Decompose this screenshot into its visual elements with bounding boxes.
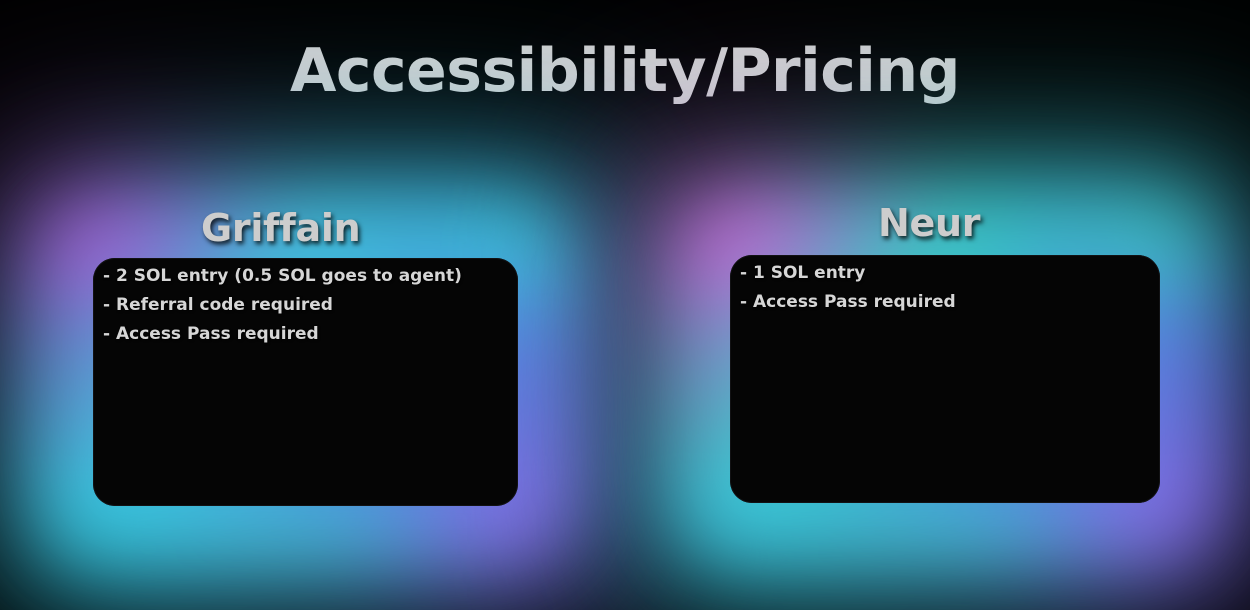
list-item: - 1 SOL entry <box>740 259 1150 288</box>
page-title: Accessibility/Pricing <box>0 36 1250 106</box>
pricing-card-neur: Neur - 1 SOL entry - Access Pass require… <box>730 255 1160 503</box>
list-item: - 2 SOL entry (0.5 SOL goes to agent) <box>103 262 508 291</box>
card-surface: - 2 SOL entry (0.5 SOL goes to agent) - … <box>93 258 518 506</box>
pricing-card-griffain: Griffain - 2 SOL entry (0.5 SOL goes to … <box>93 258 518 506</box>
card-heading-griffain: Griffain <box>201 206 360 250</box>
slide-root: Accessibility/Pricing Griffain - 2 SOL e… <box>0 0 1250 600</box>
list-item: - Referral code required <box>103 291 508 320</box>
list-item: - Access Pass required <box>103 320 508 349</box>
card-heading-neur: Neur <box>878 201 980 245</box>
feature-list-neur: - 1 SOL entry - Access Pass required <box>740 259 1150 317</box>
feature-list-griffain: - 2 SOL entry (0.5 SOL goes to agent) - … <box>103 262 508 349</box>
card-surface: - 1 SOL entry - Access Pass required <box>730 255 1160 503</box>
list-item: - Access Pass required <box>740 288 1150 317</box>
